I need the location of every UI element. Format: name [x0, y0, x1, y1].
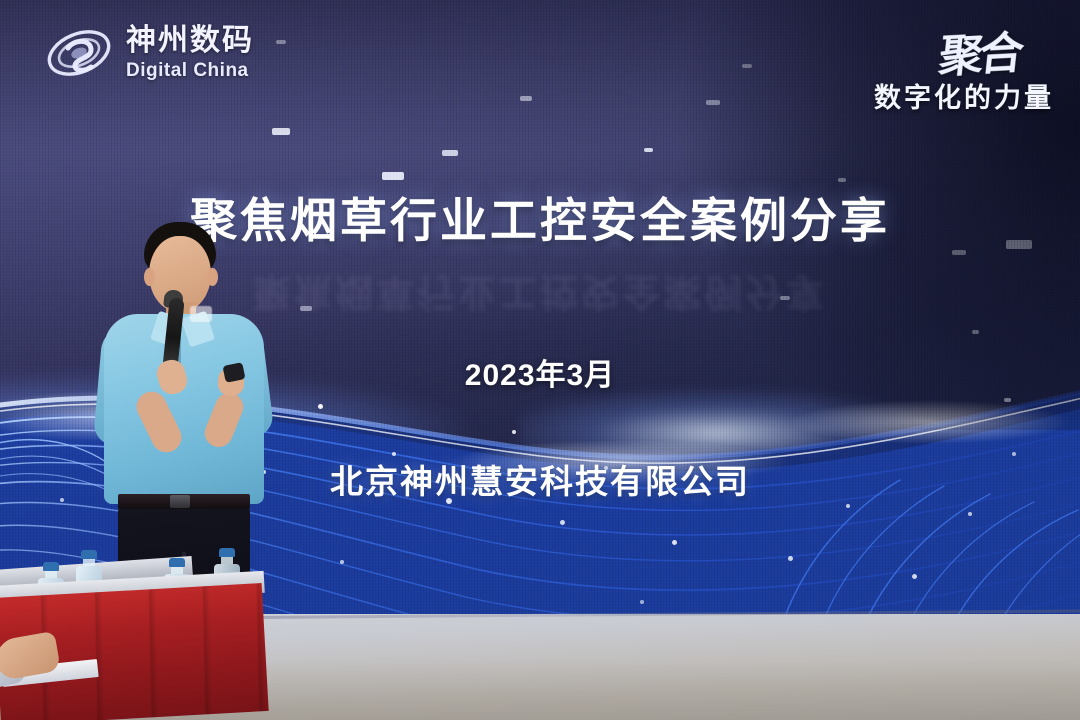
- particle-dash: [382, 172, 404, 180]
- presenter-ear-left: [144, 268, 155, 286]
- presenter-shirt-logo: [190, 306, 212, 322]
- bottle-cap: [81, 550, 97, 559]
- digital-china-logo: 神州数码 Digital China: [44, 22, 254, 84]
- event-logo-brush-text: 聚合: [936, 15, 1058, 85]
- bottle-neck: [221, 557, 233, 564]
- presenter-ear-right: [207, 268, 218, 286]
- event-logo: 聚合 数字化的力量: [874, 18, 1054, 115]
- bottle-neck: [83, 559, 95, 566]
- bottle-neck: [45, 571, 57, 578]
- bottle-neck: [171, 567, 183, 574]
- conference-photo: 神州数码 Digital China 聚合 数字化的力量 聚焦烟草行业工控安全案…: [0, 0, 1080, 720]
- particle-dash: [442, 150, 458, 156]
- bottle-cap: [43, 562, 59, 571]
- brand-name-en: Digital China: [126, 61, 254, 80]
- bottle-cap: [219, 548, 235, 557]
- digital-china-swirl-icon: [44, 22, 114, 84]
- bottle-cap: [169, 558, 185, 567]
- presenter-belt-buckle: [170, 495, 190, 508]
- digital-china-wordmark: 神州数码 Digital China: [126, 26, 254, 80]
- brand-name-cn: 神州数码: [126, 26, 254, 56]
